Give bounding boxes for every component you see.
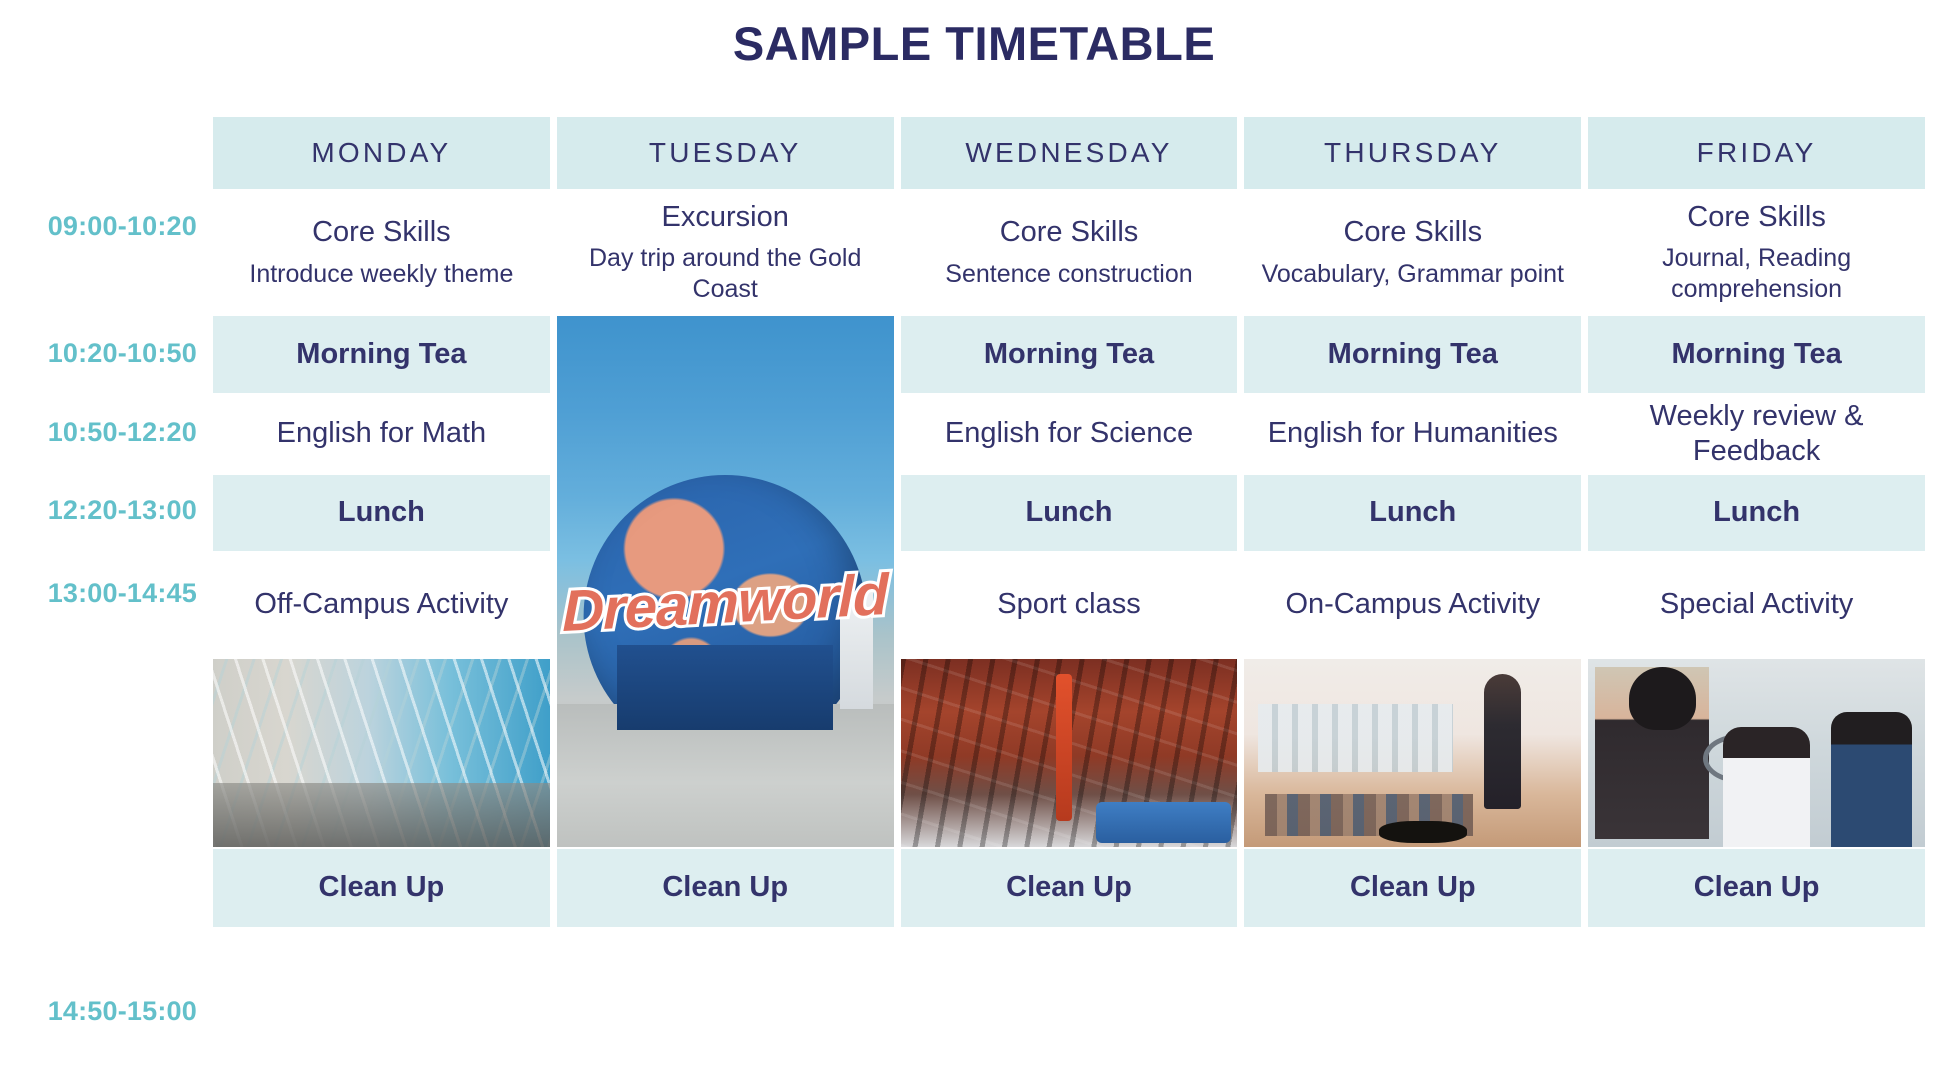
gym-mat-shape xyxy=(1096,802,1231,843)
child-one-shape xyxy=(1723,727,1811,847)
cell-friday-period1[interactable]: Core Skills Journal, Reading comprehensi… xyxy=(1588,191,1925,314)
cell-main-text: Weekly review & Feedback xyxy=(1596,399,1917,470)
cell-main-text: Core Skills xyxy=(312,215,451,250)
page-title: SAMPLE TIMETABLE xyxy=(0,16,1948,71)
cell-main-text: Clean Up xyxy=(319,870,445,905)
cell-main-text: Core Skills xyxy=(1343,215,1482,250)
photo-wednesday-activity xyxy=(901,659,1238,847)
cell-sub-text: Sentence construction xyxy=(945,259,1192,290)
cell-sub-text: Vocabulary, Grammar point xyxy=(1262,259,1564,290)
day-header-tuesday[interactable]: TUESDAY xyxy=(557,117,894,189)
cell-friday-morning-tea[interactable]: Morning Tea xyxy=(1588,316,1925,393)
cell-wednesday-period2[interactable]: English for Science xyxy=(901,395,1238,473)
dreamworld-globe-icon: Dreamworld xyxy=(557,316,894,847)
cell-friday-clean-up[interactable]: Clean Up xyxy=(1588,849,1925,927)
cell-thursday-period1[interactable]: Core Skills Vocabulary, Grammar point xyxy=(1244,191,1581,314)
cell-wednesday-lunch[interactable]: Lunch xyxy=(901,475,1238,551)
photo-tuesday-excursion: Dreamworld xyxy=(557,316,894,847)
dog-shape xyxy=(1379,821,1467,844)
day-header-label: MONDAY xyxy=(311,137,451,169)
cell-monday-clean-up[interactable]: Clean Up xyxy=(213,849,550,927)
cell-main-text: Clean Up xyxy=(662,870,788,905)
cell-main-text: Lunch xyxy=(338,495,425,530)
hair-shape xyxy=(1629,667,1696,731)
cell-wednesday-period1[interactable]: Core Skills Sentence construction xyxy=(901,191,1238,314)
cell-main-text: English for Math xyxy=(277,416,487,451)
cell-main-text: Off-Campus Activity xyxy=(254,587,508,622)
cell-monday-period1[interactable]: Core Skills Introduce weekly theme xyxy=(213,191,550,314)
timetable-page: SAMPLE TIMETABLE 09:00-10:20 10:20-10:50… xyxy=(0,0,1948,1084)
cell-main-text: Lunch xyxy=(1369,495,1456,530)
day-header-wednesday[interactable]: WEDNESDAY xyxy=(901,117,1238,189)
cell-main-text: Clean Up xyxy=(1006,870,1132,905)
cell-thursday-clean-up[interactable]: Clean Up xyxy=(1244,849,1581,927)
cell-main-text: Morning Tea xyxy=(1328,337,1498,372)
cell-friday-afternoon[interactable]: Special Activity xyxy=(1588,553,1925,657)
photo-thursday-activity xyxy=(1244,659,1581,847)
photo-friday-activity xyxy=(1588,659,1925,847)
cell-thursday-afternoon[interactable]: On-Campus Activity xyxy=(1244,553,1581,657)
day-header-monday[interactable]: MONDAY xyxy=(213,117,550,189)
cell-friday-lunch[interactable]: Lunch xyxy=(1588,475,1925,551)
cell-main-text: Clean Up xyxy=(1350,870,1476,905)
cell-wednesday-clean-up[interactable]: Clean Up xyxy=(901,849,1238,927)
cell-wednesday-afternoon[interactable]: Sport class xyxy=(901,553,1238,657)
seaside-corridor-icon xyxy=(213,659,550,847)
photo-monday-activity xyxy=(213,659,550,847)
cell-main-text: English for Science xyxy=(945,416,1193,451)
cell-main-text: Sport class xyxy=(997,587,1140,622)
cell-main-text: English for Humanities xyxy=(1268,416,1558,451)
cell-main-text: Special Activity xyxy=(1660,587,1853,622)
day-header-label: WEDNESDAY xyxy=(965,137,1172,169)
climbing-pole-shape xyxy=(1056,674,1073,821)
cell-monday-lunch[interactable]: Lunch xyxy=(213,475,550,551)
cell-main-text: Excursion xyxy=(662,200,789,235)
time-label-period2: 10:50-12:20 xyxy=(0,417,205,448)
cell-monday-period2[interactable]: English for Math xyxy=(213,395,550,473)
cell-main-text: Morning Tea xyxy=(984,337,1154,372)
day-header-friday[interactable]: FRIDAY xyxy=(1588,117,1925,189)
day-header-label: THURSDAY xyxy=(1324,137,1502,169)
time-label-lunch: 12:20-13:00 xyxy=(0,495,205,526)
cell-thursday-morning-tea[interactable]: Morning Tea xyxy=(1244,316,1581,393)
standing-person-shape xyxy=(1484,674,1521,809)
teacher-with-children-icon xyxy=(1588,659,1925,847)
cell-main-text: On-Campus Activity xyxy=(1285,587,1540,622)
day-header-thursday[interactable]: THURSDAY xyxy=(1244,117,1581,189)
cell-sub-text: Introduce weekly theme xyxy=(249,259,513,290)
timetable-grid: MONDAY TUESDAY WEDNESDAY THURSDAY FRIDAY… xyxy=(213,117,1925,927)
child-two-shape xyxy=(1831,712,1912,847)
gym-climbing-icon xyxy=(901,659,1238,847)
cell-main-text: Lunch xyxy=(1025,495,1112,530)
cell-thursday-lunch[interactable]: Lunch xyxy=(1244,475,1581,551)
time-label-morning-tea: 10:20-10:50 xyxy=(0,338,205,369)
time-label-period1: 09:00-10:20 xyxy=(0,211,205,242)
cell-main-text: Morning Tea xyxy=(1671,337,1841,372)
day-header-label: TUESDAY xyxy=(649,137,802,169)
cell-thursday-period2[interactable]: English for Humanities xyxy=(1244,395,1581,473)
cell-main-text: Clean Up xyxy=(1694,870,1820,905)
cell-main-text: Lunch xyxy=(1713,495,1800,530)
cell-monday-afternoon[interactable]: Off-Campus Activity xyxy=(213,553,550,657)
cell-main-text: Core Skills xyxy=(1687,200,1826,235)
time-label-clean-up: 14:50-15:00 xyxy=(0,996,205,1027)
cell-sub-text: Day trip around the Gold Coast xyxy=(565,243,886,305)
cell-main-text: Core Skills xyxy=(1000,215,1139,250)
school-hall-icon xyxy=(1244,659,1581,847)
cell-main-text: Morning Tea xyxy=(296,337,466,372)
cell-monday-morning-tea[interactable]: Morning Tea xyxy=(213,316,550,393)
cell-tuesday-period1[interactable]: Excursion Day trip around the Gold Coast xyxy=(557,191,894,314)
time-label-afternoon: 13:00-14:45 xyxy=(0,578,205,609)
cell-friday-period2[interactable]: Weekly review & Feedback xyxy=(1588,395,1925,473)
day-header-label: FRIDAY xyxy=(1697,137,1817,169)
cell-wednesday-morning-tea[interactable]: Morning Tea xyxy=(901,316,1238,393)
globe-base-shape xyxy=(617,645,833,730)
cell-tuesday-clean-up[interactable]: Clean Up xyxy=(557,849,894,927)
cell-sub-text: Journal, Reading comprehension xyxy=(1596,243,1917,305)
